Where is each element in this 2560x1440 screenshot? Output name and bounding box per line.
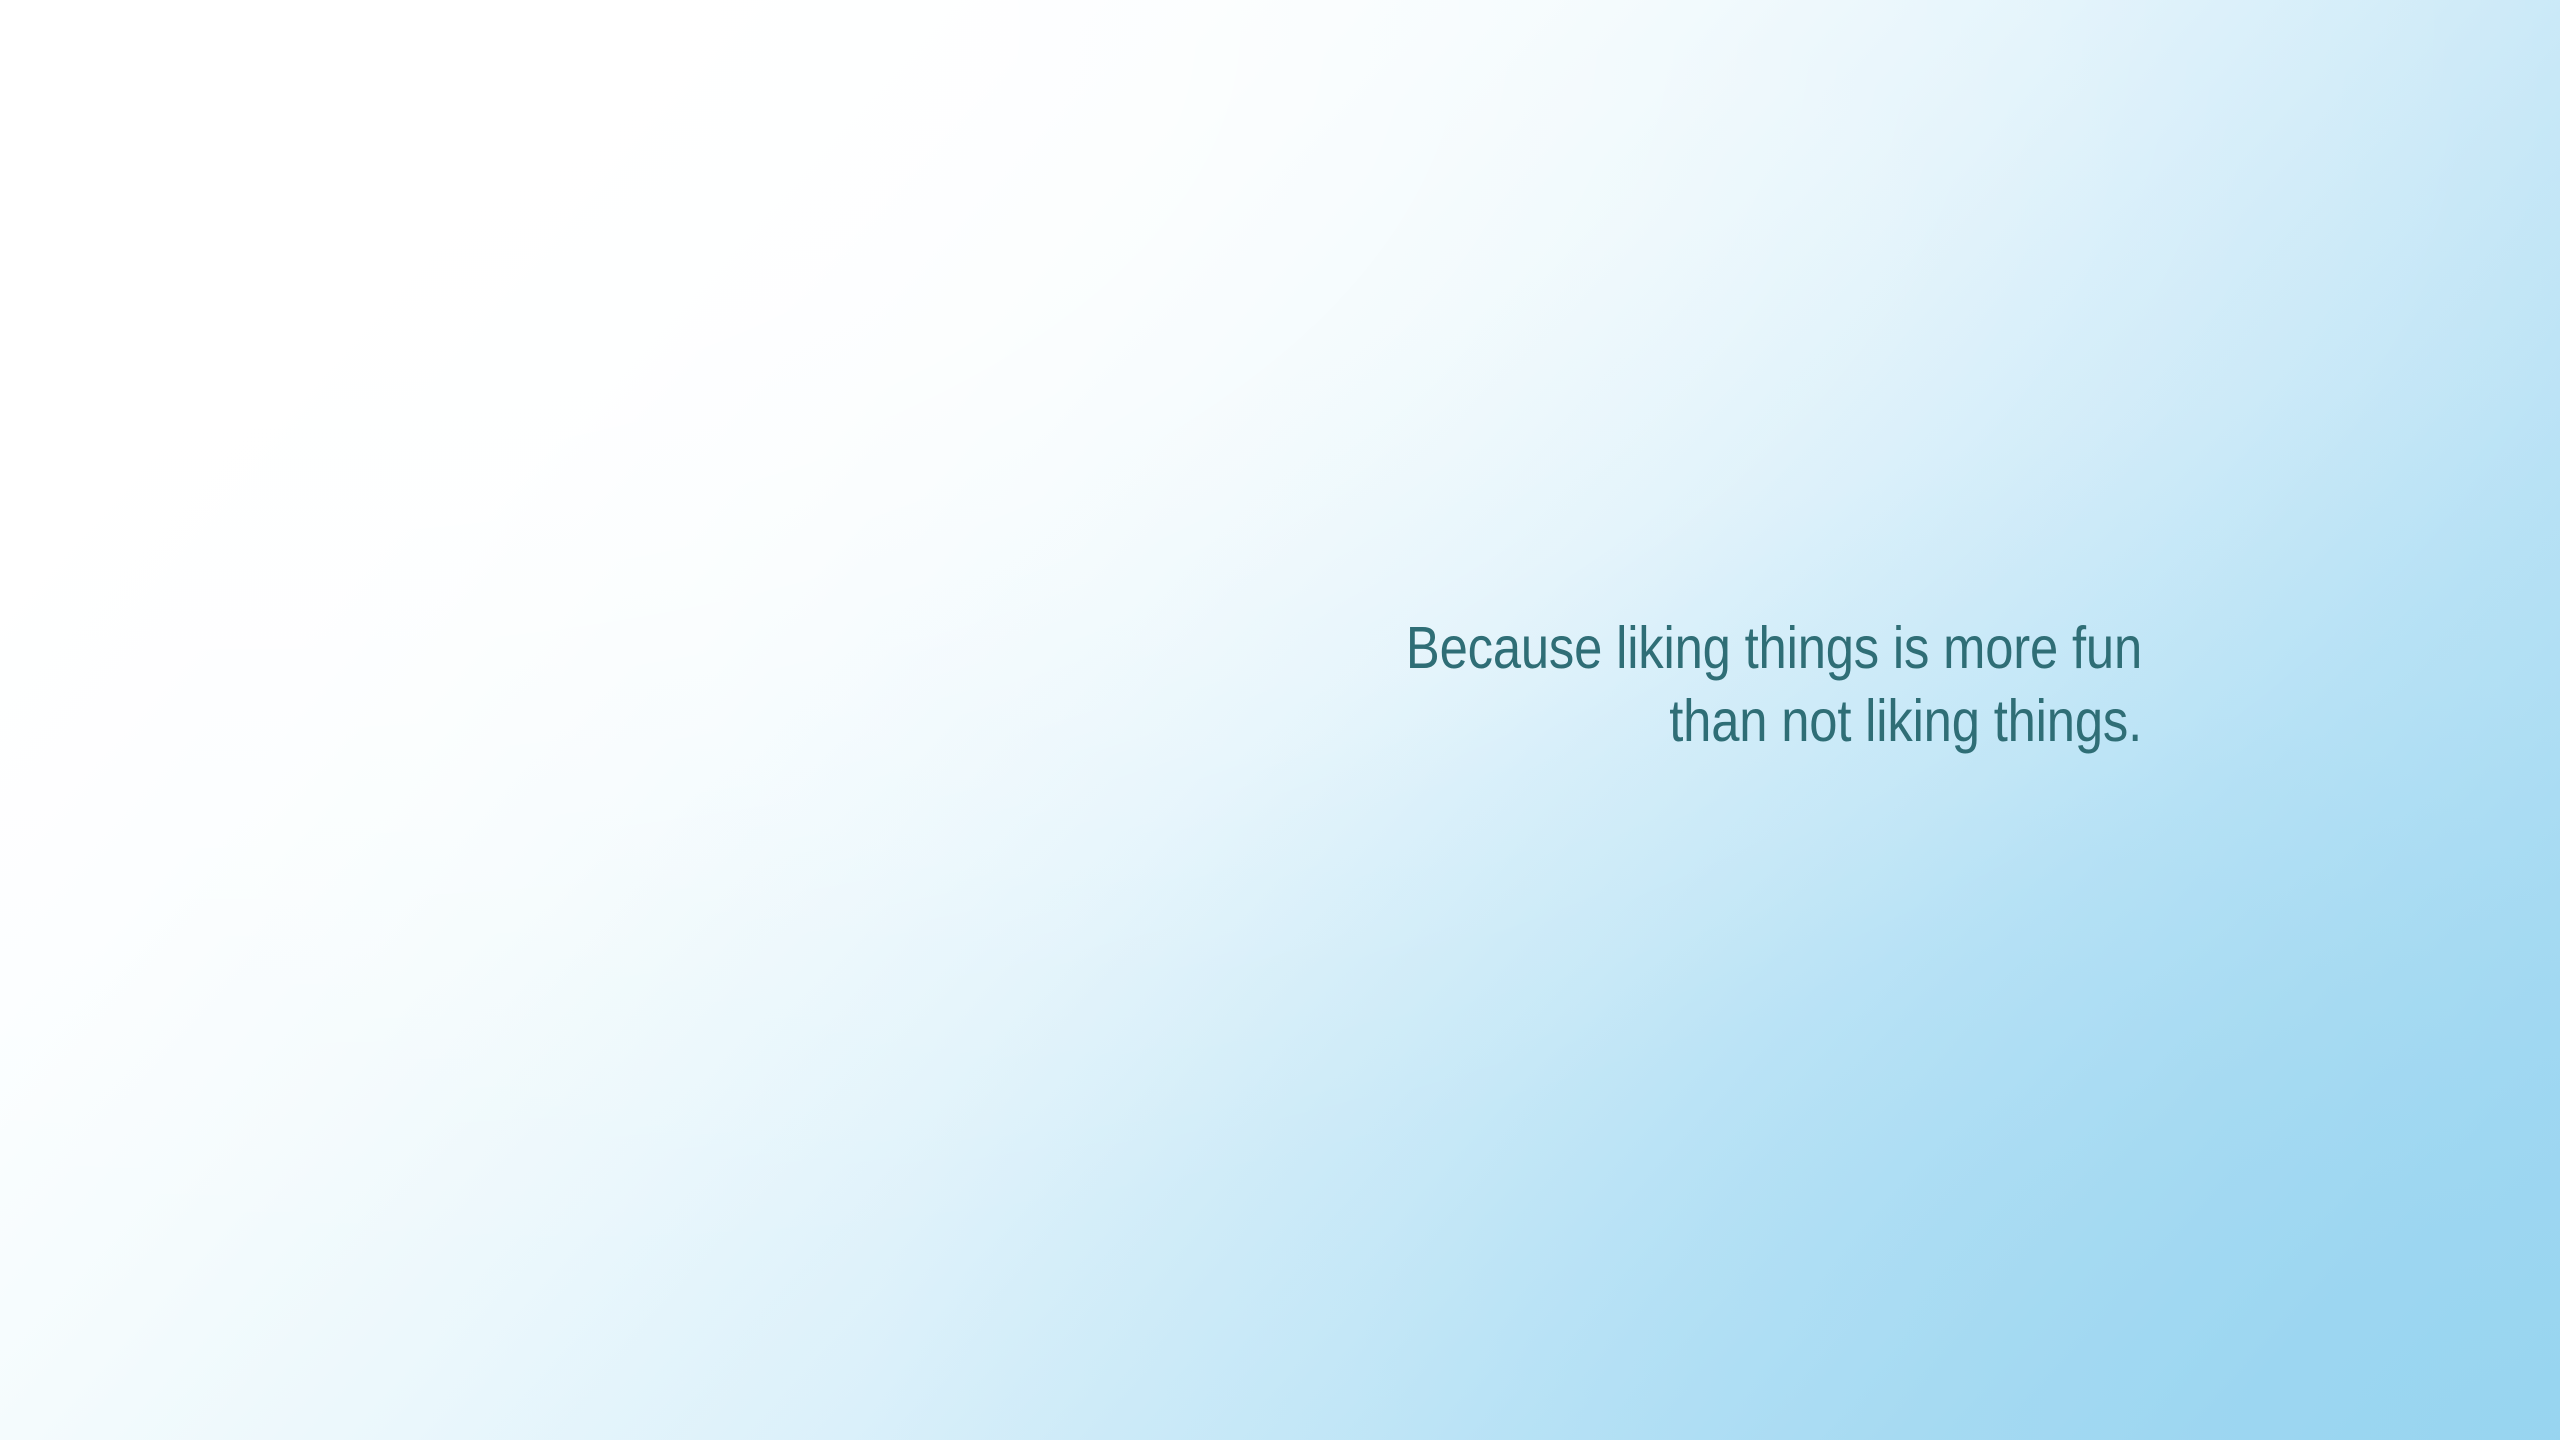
quote-line-2: than not liking things.: [1211, 685, 2142, 758]
quote-line-1: Because liking things is more fun: [1211, 612, 2142, 685]
wallpaper-canvas: Because liking things is more fun than n…: [0, 0, 2560, 1440]
quote-text-block: Because liking things is more fun than n…: [1060, 612, 2142, 758]
